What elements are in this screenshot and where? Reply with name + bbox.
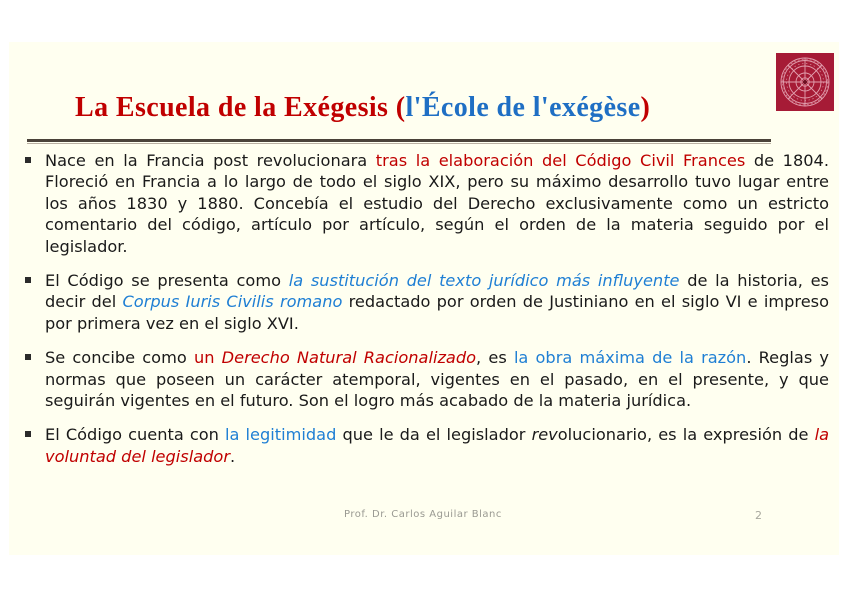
bullet-paragraph: Se concibe como un Derecho Natural Racio… [23, 347, 829, 411]
title-paren-close: ) [641, 92, 651, 123]
text-run: , es [476, 348, 514, 367]
title-rule-thick [27, 139, 771, 142]
presentation-slide: La Escuela de la Exégesis (l'École de l'… [9, 42, 839, 555]
text-run: Corpus Iuris Civilis romano [123, 292, 343, 311]
text-run: Se concibe como [45, 348, 194, 367]
title-rule-thin [27, 143, 771, 144]
paragraph-text: Nace en la Francia post revolucionara tr… [45, 151, 829, 256]
title-french: l'École de l'exégèse [405, 92, 640, 123]
bullet-paragraph: El Código cuenta con la legitimidad que … [23, 424, 829, 467]
text-run: olucionario, es la expresión de [558, 425, 815, 444]
text-run: que le da el legislador [336, 425, 531, 444]
title-spacer [388, 92, 395, 123]
bullet-paragraph: Nace en la Francia post revolucionara tr… [23, 150, 829, 257]
text-run: El Código se presenta como [45, 271, 289, 290]
text-run: la obra máxima de la razón [514, 348, 746, 367]
square-bullet-icon [25, 277, 31, 283]
page-title: La Escuela de la Exégesis (l'École de l'… [75, 92, 650, 124]
square-bullet-icon [25, 431, 31, 437]
text-run: Derecho Natural Racionalizado [222, 348, 476, 367]
paragraph-text: El Código cuenta con la legitimidad que … [45, 425, 829, 465]
square-bullet-icon [25, 354, 31, 360]
title-main: La Escuela de la Exégesis [75, 92, 388, 123]
slide-body: Nace en la Francia post revolucionara tr… [23, 150, 829, 467]
title-block: La Escuela de la Exégesis (l'École de l'… [9, 92, 839, 138]
text-run: la sustitución del texto jurídico más in… [289, 271, 680, 290]
text-run: tras la elaboración del Código Civil Fra… [376, 151, 745, 170]
bullet-paragraph: El Código se presenta como la sustitució… [23, 270, 829, 334]
square-bullet-icon [25, 157, 31, 163]
text-run: la legitimidad [225, 425, 336, 444]
text-run: Nace en la Francia post revolucionara [45, 151, 376, 170]
slide-footer: Prof. Dr. Carlos Aguilar Blanc 2 [9, 509, 839, 529]
text-run: . [230, 447, 235, 466]
text-run: un [194, 348, 222, 367]
text-run: El Código cuenta con [45, 425, 225, 444]
paragraph-text: Se concibe como un Derecho Natural Racio… [45, 348, 829, 410]
text-run: rev [532, 425, 558, 444]
footer-author: Prof. Dr. Carlos Aguilar Blanc [344, 509, 502, 520]
footer-page-number: 2 [755, 509, 762, 522]
paragraph-text: El Código se presenta como la sustitució… [45, 271, 829, 333]
